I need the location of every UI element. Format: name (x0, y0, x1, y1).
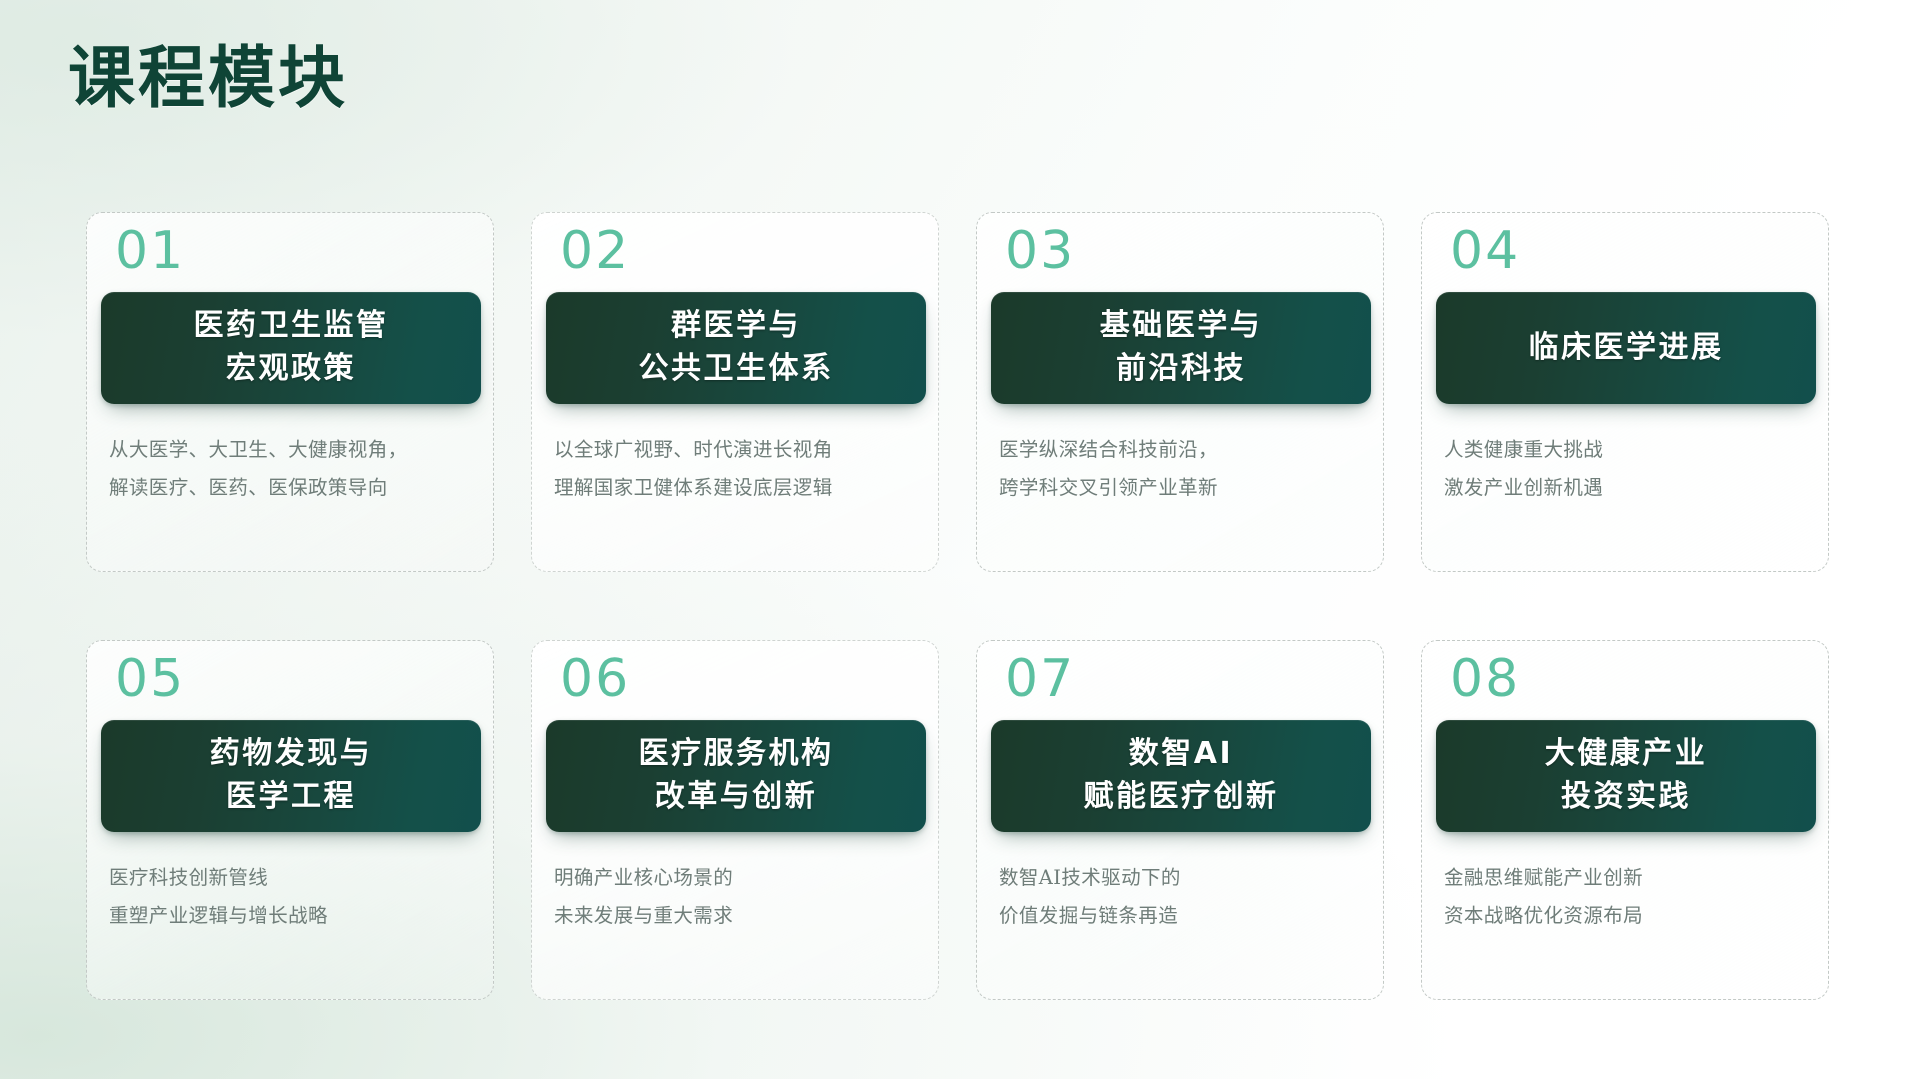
module-card-08[interactable]: 08 大健康产业 投资实践 金融思维赋能产业创新 资本战略优化资源布局 (1421, 640, 1829, 1000)
module-desc-06: 明确产业核心场景的 未来发展与重大需求 (554, 859, 930, 935)
module-pill-06[interactable]: 医疗服务机构 改革与创新 (546, 720, 926, 832)
module-desc-02: 以全球广视野、时代演进长视角 理解国家卫健体系建设底层逻辑 (554, 431, 930, 507)
module-pill-08[interactable]: 大健康产业 投资实践 (1436, 720, 1816, 832)
module-number-06: 06 (560, 653, 630, 705)
module-title-05: 药物发现与 医学工程 (210, 733, 373, 818)
module-card-03[interactable]: 03 基础医学与 前沿科技 医学纵深结合科技前沿， 跨学科交叉引领产业革新 (976, 212, 1384, 572)
module-desc-01: 从大医学、大卫生、大健康视角， 解读医疗、医药、医保政策导向 (109, 431, 485, 507)
module-desc-07: 数智AI技术驱动下的 价值发掘与链条再造 (999, 859, 1375, 935)
module-pill-07[interactable]: 数智AI 赋能医疗创新 (991, 720, 1371, 832)
module-pill-05[interactable]: 药物发现与 医学工程 (101, 720, 481, 832)
module-desc-08: 金融思维赋能产业创新 资本战略优化资源布局 (1444, 859, 1820, 935)
module-title-08: 大健康产业 投资实践 (1545, 733, 1708, 818)
module-card-02[interactable]: 02 群医学与 公共卫生体系 以全球广视野、时代演进长视角 理解国家卫健体系建设… (531, 212, 939, 572)
module-number-03: 03 (1005, 225, 1075, 277)
module-card-05[interactable]: 05 药物发现与 医学工程 医疗科技创新管线 重塑产业逻辑与增长战略 (86, 640, 494, 1000)
module-number-05: 05 (115, 653, 185, 705)
module-card-06[interactable]: 06 医疗服务机构 改革与创新 明确产业核心场景的 未来发展与重大需求 (531, 640, 939, 1000)
module-title-01: 医药卫生监管 宏观政策 (194, 305, 389, 390)
module-card-07[interactable]: 07 数智AI 赋能医疗创新 数智AI技术驱动下的 价值发掘与链条再造 (976, 640, 1384, 1000)
page-title: 课程模块 (68, 42, 348, 114)
module-title-03: 基础医学与 前沿科技 (1100, 305, 1263, 390)
module-desc-05: 医疗科技创新管线 重塑产业逻辑与增长战略 (109, 859, 485, 935)
module-pill-01[interactable]: 医药卫生监管 宏观政策 (101, 292, 481, 404)
module-grid: 01 医药卫生监管 宏观政策 从大医学、大卫生、大健康视角， 解读医疗、医药、医… (86, 212, 1830, 1000)
module-number-08: 08 (1450, 653, 1520, 705)
module-pill-04[interactable]: 临床医学进展 (1436, 292, 1816, 404)
module-number-07: 07 (1005, 653, 1075, 705)
module-pill-02[interactable]: 群医学与 公共卫生体系 (546, 292, 926, 404)
module-card-01[interactable]: 01 医药卫生监管 宏观政策 从大医学、大卫生、大健康视角， 解读医疗、医药、医… (86, 212, 494, 572)
module-number-02: 02 (560, 225, 630, 277)
module-desc-04: 人类健康重大挑战 激发产业创新机遇 (1444, 431, 1820, 507)
module-title-07: 数智AI 赋能医疗创新 (1084, 733, 1279, 818)
module-desc-03: 医学纵深结合科技前沿， 跨学科交叉引领产业革新 (999, 431, 1375, 507)
module-card-04[interactable]: 04 临床医学进展 人类健康重大挑战 激发产业创新机遇 (1421, 212, 1829, 572)
module-pill-03[interactable]: 基础医学与 前沿科技 (991, 292, 1371, 404)
module-title-06: 医疗服务机构 改革与创新 (639, 733, 834, 818)
module-number-01: 01 (115, 225, 185, 277)
module-number-04: 04 (1450, 225, 1520, 277)
module-title-02: 群医学与 公共卫生体系 (639, 305, 834, 390)
module-title-04: 临床医学进展 (1529, 327, 1724, 370)
